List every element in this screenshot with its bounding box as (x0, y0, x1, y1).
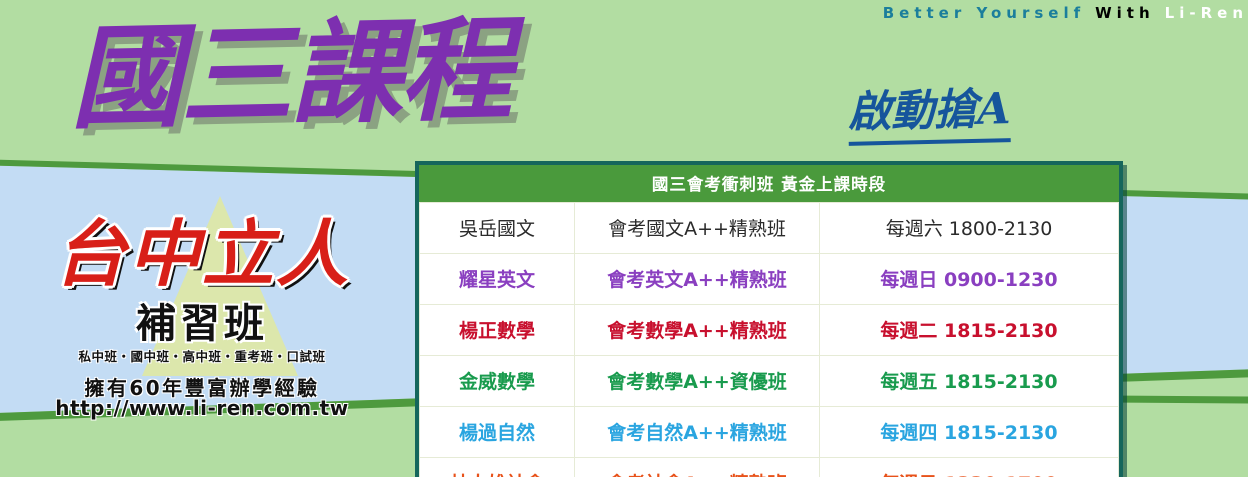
poster-canvas: Better Yourself With Li-Ren 國三課程 啟動搶A 台中… (0, 0, 1248, 477)
cell-teacher: 金威數學 (420, 356, 575, 407)
logo-name: 台中立人 (22, 218, 382, 290)
logo-subname: 補習班 (22, 304, 382, 344)
schedule-card: 國三會考衝刺班 黃金上課時段 吳岳國文 會考國文A++精熟班 每週六 1800-… (415, 161, 1123, 477)
schedule-table: 吳岳國文 會考國文A++精熟班 每週六 1800-2130 耀星英文 會考英文A… (419, 202, 1119, 477)
table-row[interactable]: 吳岳國文 會考國文A++精熟班 每週六 1800-2130 (420, 203, 1119, 254)
cell-course: 會考數學A++精熟班 (575, 305, 820, 356)
table-row[interactable]: 楊正數學 會考數學A++精熟班 每週二 1815-2130 (420, 305, 1119, 356)
cell-teacher: 耀星英文 (420, 254, 575, 305)
schedule-header: 國三會考衝刺班 黃金上課時段 (419, 165, 1119, 202)
cell-course: 會考社會A++精熟班 (575, 458, 820, 477)
tagline-part3: Li-Ren (1165, 4, 1248, 22)
cell-time: 每週日 0900-1230 (820, 254, 1119, 305)
cell-course: 會考數學A++資優班 (575, 356, 820, 407)
tagline-part2: With (1095, 4, 1155, 22)
page-title: 國三課程 (69, 13, 511, 136)
page-subtitle: 啟動搶A (847, 74, 1011, 146)
schedule-table-body: 吳岳國文 會考國文A++精熟班 每週六 1800-2130 耀星英文 會考英文A… (420, 203, 1119, 477)
logo-class-list: 私中班・國中班・高中班・重考班・口試班 (22, 346, 382, 365)
table-row[interactable]: 林大雄社會 會考社會A++精熟班 每週日 1330-1700 (420, 458, 1119, 477)
table-row[interactable]: 楊過自然 會考自然A++精熟班 每週四 1815-2130 (420, 407, 1119, 458)
cell-teacher: 吳岳國文 (420, 203, 575, 254)
table-row[interactable]: 耀星英文 會考英文A++精熟班 每週日 0900-1230 (420, 254, 1119, 305)
cell-time: 每週日 1330-1700 (820, 458, 1119, 477)
cell-time: 每週五 1815-2130 (820, 356, 1119, 407)
cell-time: 每週二 1815-2130 (820, 305, 1119, 356)
tagline: Better Yourself With Li-Ren (630, 1, 1248, 25)
cell-teacher: 楊正數學 (420, 305, 575, 356)
brand-logo: 台中立人 補習班 私中班・國中班・高中班・重考班・口試班 擁有60年豐富辦學經驗… (22, 196, 382, 411)
cell-course: 會考英文A++精熟班 (575, 254, 820, 305)
tagline-part1: Better Yourself (883, 4, 1085, 22)
table-row[interactable]: 金威數學 會考數學A++資優班 每週五 1815-2130 (420, 356, 1119, 407)
cell-time: 每週六 1800-2130 (820, 203, 1119, 254)
cell-teacher: 林大雄社會 (420, 458, 575, 477)
cell-time: 每週四 1815-2130 (820, 407, 1119, 458)
cell-course: 會考國文A++精熟班 (575, 203, 820, 254)
cell-teacher: 楊過自然 (420, 407, 575, 458)
cell-course: 會考自然A++精熟班 (575, 407, 820, 458)
logo-website-url[interactable]: http://www.li-ren.com.tw (22, 396, 382, 420)
